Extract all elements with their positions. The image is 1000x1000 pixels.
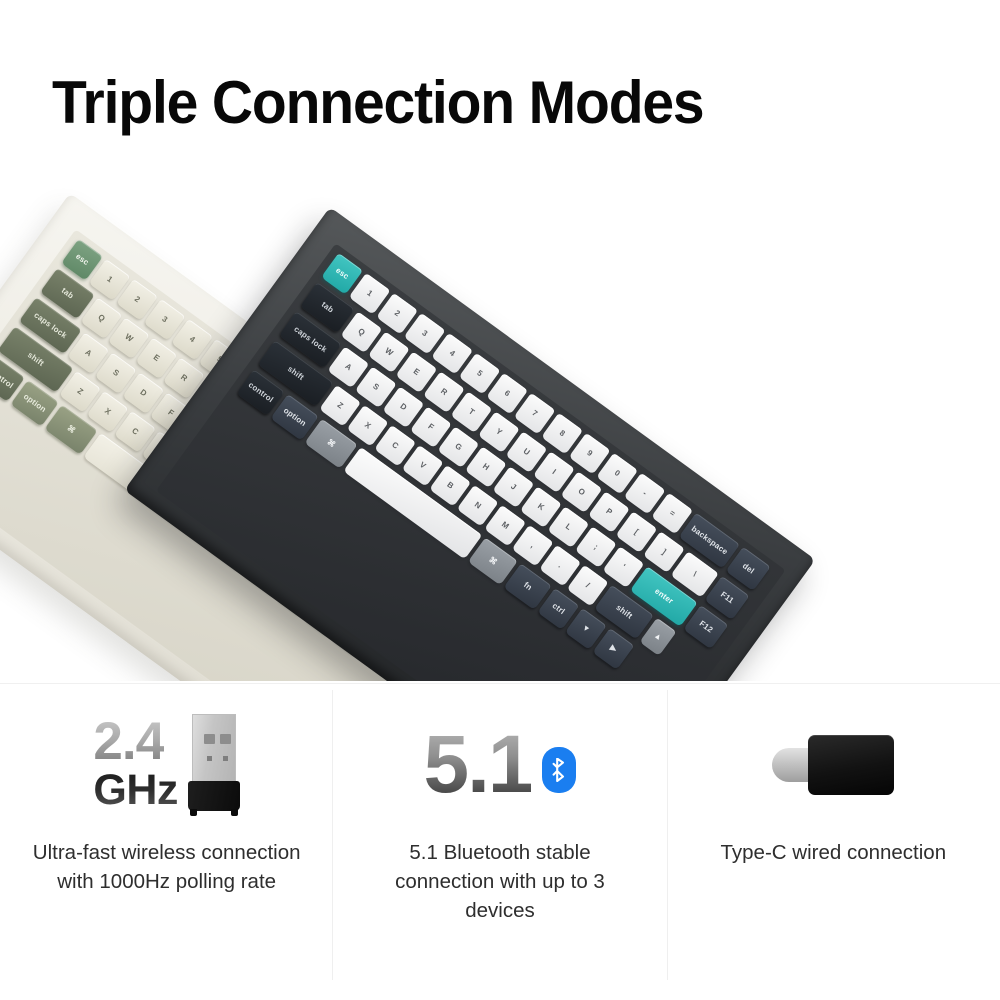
ghz-number: 2.4: [93, 718, 164, 767]
dongle-slot: [220, 734, 231, 744]
photo-top-edge: [0, 185, 1000, 186]
dongle-foot: [231, 809, 238, 816]
hero-product-photo: esc 1 2 3 4 5 6 7 8 9 0 - = del tab Q W …: [0, 185, 1000, 683]
dongle-metal-shell: [192, 714, 236, 782]
feature-type-c-wired: Type-C wired connection: [667, 700, 1000, 1000]
feature-wireless-24ghz: 2.4 GHz Ultra-fast wireless connection w: [0, 700, 333, 1000]
dongle-slot: [204, 734, 215, 744]
usb-type-c-connector-icon: [772, 735, 894, 795]
feature-bluetooth-51: 5.1 5.1 Bluetooth stable connection with…: [333, 700, 666, 1000]
feature-caption: Ultra-fast wireless connection with 1000…: [32, 838, 302, 896]
ghz-lockup: 2.4 GHz: [93, 714, 240, 816]
usb-a-dongle-icon: [188, 714, 240, 816]
section-divider-horizontal: [0, 683, 1000, 684]
dongle-hole: [223, 756, 228, 761]
bluetooth-version-number: 5.1: [423, 730, 531, 801]
feature-caption: Type-C wired connection: [698, 838, 968, 867]
feature-visual: 2.4 GHz: [93, 700, 240, 830]
ghz-text: 2.4 GHz: [93, 718, 178, 812]
dongle-hole: [207, 756, 212, 761]
bluetooth-glyph: [552, 758, 567, 782]
dongle-foot: [190, 809, 197, 816]
type-c-housing: [808, 735, 894, 795]
bluetooth-lockup: 5.1: [423, 730, 576, 801]
feature-visual: [772, 700, 894, 830]
feature-columns: 2.4 GHz Ultra-fast wireless connection w: [0, 700, 1000, 1000]
feature-visual: 5.1: [423, 700, 576, 830]
dongle-plastic-body: [188, 781, 240, 811]
bluetooth-icon: [542, 747, 576, 793]
ghz-unit: GHz: [93, 769, 178, 812]
feature-caption: 5.1 Bluetooth stable connection with up …: [365, 838, 635, 925]
page-title: Triple Connection Modes: [52, 68, 703, 137]
